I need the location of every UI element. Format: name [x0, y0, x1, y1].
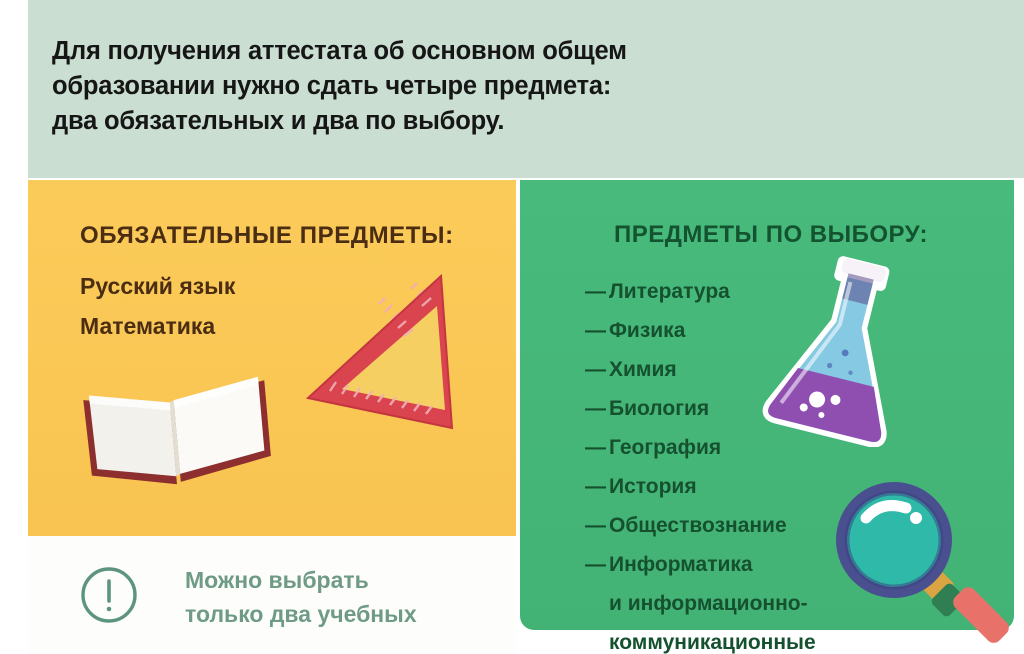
exclamation-circle-icon — [78, 564, 140, 626]
dash-bullet: — — [585, 311, 609, 350]
required-subjects-heading: ОБЯЗАТЕЛЬНЫЕ ПРЕДМЕТЫ: — [80, 222, 454, 250]
optional-subject-label: Информатика — [609, 545, 753, 584]
dash-bullet: — — [585, 467, 609, 506]
chemistry-flask-icon — [760, 252, 925, 447]
optional-subject-label: История — [609, 467, 697, 506]
open-book-icon — [72, 362, 282, 492]
magnifying-glass-icon — [832, 474, 1022, 654]
note-text: Можно выбрать только два учебных — [185, 563, 515, 631]
optional-subjects-heading: ПРЕДМЕТЫ ПО ВЫБОРУ: — [614, 221, 928, 249]
dash-bullet: — — [585, 272, 609, 311]
optional-subject-label: Биология — [609, 389, 709, 428]
dash-bullet: — — [585, 428, 609, 467]
optional-subject-label: Обществознание — [609, 506, 787, 545]
left-gutter — [0, 0, 28, 654]
optional-subject-label: Физика — [609, 311, 685, 350]
dash-bullet: — — [585, 350, 609, 389]
header-text: Для получения аттестата об основном обще… — [52, 34, 912, 139]
dash-bullet: — — [585, 545, 609, 584]
optional-subject-label: География — [609, 428, 721, 467]
triangular-ruler-icon — [300, 258, 490, 458]
optional-subject-label: Химия — [609, 350, 677, 389]
dash-bullet: — — [585, 389, 609, 428]
optional-subject-label: Литература — [609, 272, 730, 311]
dash-bullet: — — [585, 506, 609, 545]
infographic-canvas: Для получения аттестата об основном обще… — [0, 0, 1024, 654]
